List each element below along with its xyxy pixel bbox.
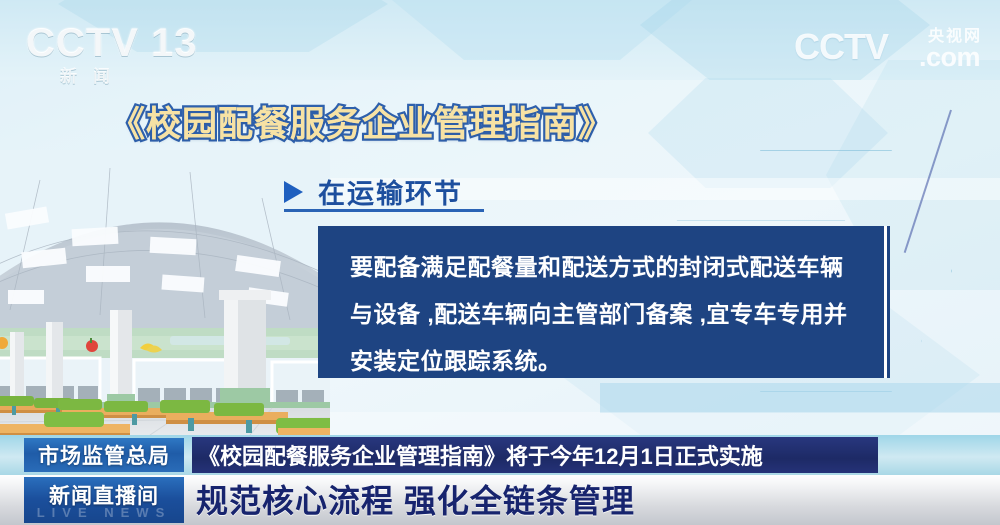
banner-row-headline: 市场监管总局 《校园配餐服务企业管理指南》将于今年12月1日正式实施 [0, 435, 1000, 475]
callout-line-1: 要配备满足配餐量和配送方式的封闭式配送车辆 [350, 248, 848, 282]
program-tag-label-en: LIVE NEWS [24, 505, 184, 520]
callout-line-3: 安装定位跟踪系统。 [350, 342, 848, 376]
bg-stripe-2 [600, 383, 1000, 413]
cafeteria-illustration [0, 150, 330, 435]
content-callout-box: 要配备满足配餐量和配送方式的封闭式配送车辆 与设备 ,配送车辆向主管部门备案 ,… [318, 226, 884, 378]
lower-third-banner: 市场监管总局 《校园配餐服务企业管理指南》将于今年12月1日正式实施 新闻直播间… [0, 435, 1000, 525]
bottom-headline: 规范核心流程 强化全链条管理 [196, 476, 635, 522]
callout-line-2: 与设备 ,配送车辆向主管部门备案 ,宜专车专用并 [350, 295, 848, 329]
cafeteria-svg [0, 150, 330, 435]
agency-tag-label: 市场监管总局 [38, 440, 170, 470]
agency-tag: 市场监管总局 [24, 438, 184, 472]
page-title: 《校园配餐服务企业管理指南》 [110, 96, 614, 147]
program-tag: 新闻直播间 LIVE NEWS [24, 477, 184, 523]
play-triangle-icon [284, 181, 303, 203]
headline-bar: 《校园配餐服务企业管理指南》将于今年12月1日正式实施 [192, 437, 878, 473]
subtitle-underline [284, 209, 484, 212]
headline-text: 《校园配餐服务企业管理指南》将于今年12月1日正式实施 [192, 439, 763, 471]
banner-row-program: 新闻直播间 LIVE NEWS 规范核心流程 强化全链条管理 [0, 475, 1000, 525]
broadcast-screen: CCTV 13 新闻 CCTV 央视网 .com [0, 0, 1000, 525]
section-subtitle: 在运输环节 [318, 172, 463, 211]
callout-text-block: 要配备满足配餐量和配送方式的封闭式配送车辆 与设备 ,配送车辆向主管部门备案 ,… [350, 248, 848, 376]
